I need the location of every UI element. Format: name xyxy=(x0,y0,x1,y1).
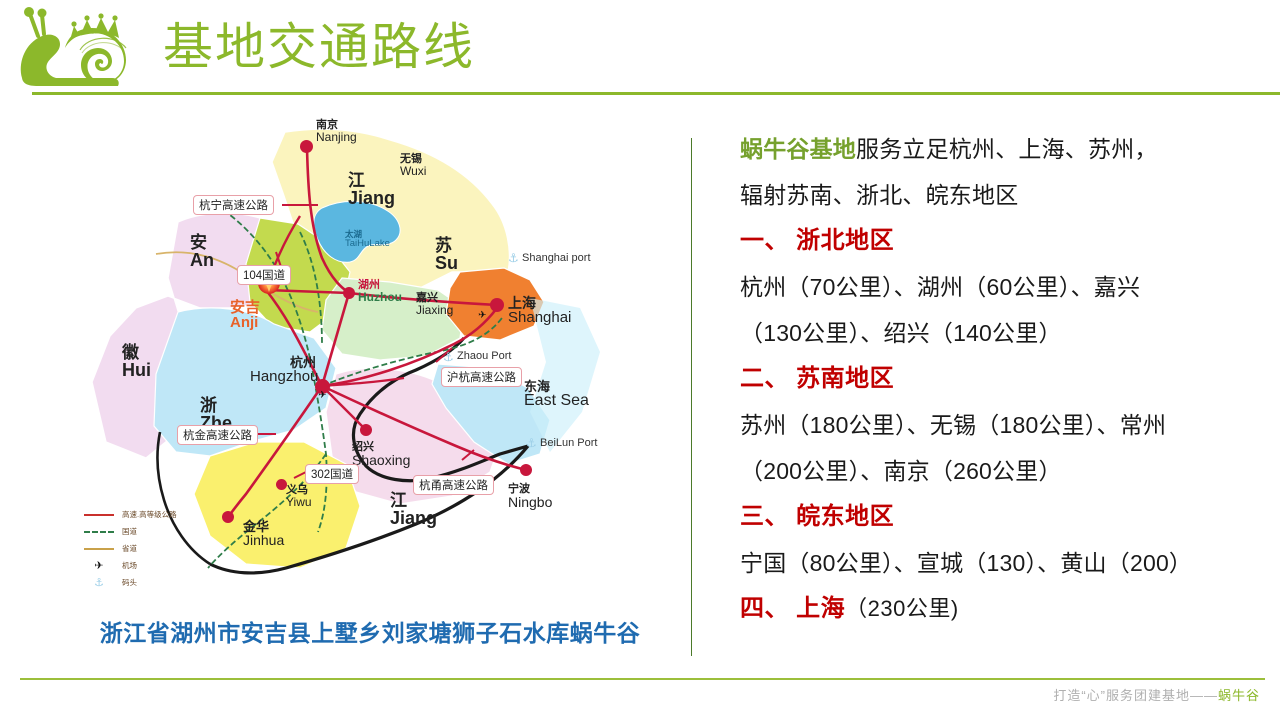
info-intro-line-1: 蜗牛谷基地服务立足杭州、上海、苏州， xyxy=(740,126,1255,172)
map-callout-huhang-expressway[interactable]: 沪杭高速公路 xyxy=(441,367,522,387)
city-dot-shaoxing[interactable] xyxy=(360,424,372,436)
airport-icon-hangzhou: ✈ xyxy=(318,390,326,401)
legend-item-provincial-road: 省道 xyxy=(82,540,212,557)
info-heading-shanghai: 四、 上海（230公里) xyxy=(740,586,1255,632)
page-title: 基地交通路线 xyxy=(163,14,475,80)
map-callout-g104[interactable]: 104国道 xyxy=(237,265,291,285)
info-heading-shanghai-label: 四、 上海 xyxy=(740,595,845,622)
map-label-province-jiangsu-1: 江Jiang xyxy=(348,172,395,208)
city-dot-nanjing[interactable] xyxy=(300,140,313,153)
map-callout-hangjin-expressway[interactable]: 杭金高速公路 xyxy=(177,425,258,445)
map-callout-g302[interactable]: 302国道 xyxy=(305,464,359,484)
info-sunan-line-2: （200公里）、南京（260公里） xyxy=(740,448,1255,494)
port-icon-zhaou: ⚓ xyxy=(443,350,454,364)
map-label-beilun-port: BeiLun Port xyxy=(540,438,597,449)
map-label-shanghai-port: Shanghai port xyxy=(522,253,591,264)
map-label-province-anhui: 安An xyxy=(190,234,214,270)
map-label-province-su: 苏Su xyxy=(435,237,458,273)
airport-icon: ✈ xyxy=(82,559,116,572)
slide-header: 基地交通路线 xyxy=(0,0,1280,100)
footer-tagline: 打造“心”服务团建基地——蜗牛谷 xyxy=(1053,685,1260,704)
map-label-wuxi: 无锡Wuxi xyxy=(400,154,426,177)
info-sunan-line-1: 苏州（180公里）、无锡（180公里）、常州 xyxy=(740,402,1255,448)
map-label-anji: 安吉Anji xyxy=(230,300,260,331)
info-heading-sunan: 二、 苏南地区 xyxy=(740,356,1255,402)
footer-tagline-brand: 蜗牛谷 xyxy=(1218,688,1260,703)
map-label-hangzhou: 杭州Hangzhou xyxy=(250,356,318,385)
map-column: ✈ ✈ ⚓ ⚓ ⚓ 江Jiang 安An 苏Su 徽Hui 浙Zhe xyxy=(60,112,680,657)
map-label-huzhou: 湖州Huzhou xyxy=(358,280,402,303)
legend-item-port: ⚓ 码头 xyxy=(82,574,212,591)
legend-item-highway: 高速.高等级公路 xyxy=(82,506,212,523)
port-icon: ⚓ xyxy=(82,576,116,589)
port-icon-beilun: ⚓ xyxy=(526,436,537,450)
map-callout-hangning-expressway[interactable]: 杭宁高速公路 xyxy=(193,195,274,215)
map-label-nanjing: 南京Nanjing xyxy=(316,120,357,143)
info-zhebei-line-1: 杭州（70公里）、湖州（60公里）、嘉兴 xyxy=(740,264,1255,310)
map-label-province-hui: 徽Hui xyxy=(122,344,151,380)
footer-tagline-plain: 打造“心”服务团建基地—— xyxy=(1053,688,1218,703)
city-dot-huzhou[interactable] xyxy=(343,287,355,299)
map-callout-hangyong-expressway[interactable]: 杭甬高速公路 xyxy=(413,475,494,495)
map-label-jinhua: 金华Jinhua xyxy=(243,520,284,548)
map-legend: 高速.高等级公路 国道 省道 ✈ 机场 ⚓ 码头 xyxy=(82,506,212,591)
map-label-ningbo: 宁波Ningbo xyxy=(508,484,552,509)
footer-divider xyxy=(20,678,1265,680)
map-label-east-sea: 东海East Sea xyxy=(524,380,589,410)
info-zhebei-line-2: （130公里）、绍兴（140公里） xyxy=(740,310,1255,356)
header-divider xyxy=(32,92,1280,95)
provincial-road-line-icon xyxy=(82,548,116,550)
info-wandong-line-1: 宁国（80公里）、宣城（130）、黄山（200） xyxy=(740,540,1255,586)
map-label-jiaxing: 嘉兴Jiaxing xyxy=(416,293,453,316)
transport-map[interactable]: ✈ ✈ ⚓ ⚓ ⚓ 江Jiang 安An 苏Su 徽Hui 浙Zhe xyxy=(60,112,660,612)
map-label-shanghai: 上海Shanghai xyxy=(508,296,571,326)
brand-name: 蜗牛谷基地 xyxy=(740,136,856,162)
info-panel: 蜗牛谷基地服务立足杭州、上海、苏州， 辐射苏南、浙北、皖东地区 一、 浙北地区 … xyxy=(740,126,1255,632)
city-dot-shanghai[interactable] xyxy=(490,298,504,312)
map-label-yiwu: 义乌Yiwu xyxy=(286,485,312,508)
airport-icon-shanghai: ✈ xyxy=(478,310,486,321)
legend-item-airport: ✈ 机场 xyxy=(82,557,212,574)
column-divider xyxy=(691,138,692,656)
city-dot-ningbo[interactable] xyxy=(520,464,532,476)
slide-root: 基地交通路线 xyxy=(0,0,1280,720)
info-heading-wandong: 三、 皖东地区 xyxy=(740,494,1255,540)
snail-crown-logo xyxy=(8,6,143,96)
info-heading-zhebei: 一、 浙北地区 xyxy=(740,218,1255,264)
port-icon-shanghai: ⚓ xyxy=(508,251,519,265)
city-dot-jinhua[interactable] xyxy=(222,511,234,523)
info-shanghai-distance: （230公里) xyxy=(845,596,959,621)
intro-rest: 服务立足杭州、上海、苏州， xyxy=(856,136,1158,162)
map-caption: 浙江省湖州市安吉县上墅乡刘家塘狮子石水库蜗牛谷 xyxy=(60,614,680,648)
info-intro-line-2: 辐射苏南、浙北、皖东地区 xyxy=(740,172,1255,218)
map-label-taihu-lake: 太湖TaiHuLake xyxy=(345,230,390,248)
highway-line-icon xyxy=(82,514,116,516)
map-label-shaoxing: 绍兴Shaoxing xyxy=(352,442,410,467)
legend-item-national-road: 国道 xyxy=(82,523,212,540)
national-road-line-icon xyxy=(82,531,116,533)
map-label-zhaou-port: Zhaou Port xyxy=(457,351,511,362)
map-label-province-jiangsu-2: 江Jiang xyxy=(390,492,437,528)
